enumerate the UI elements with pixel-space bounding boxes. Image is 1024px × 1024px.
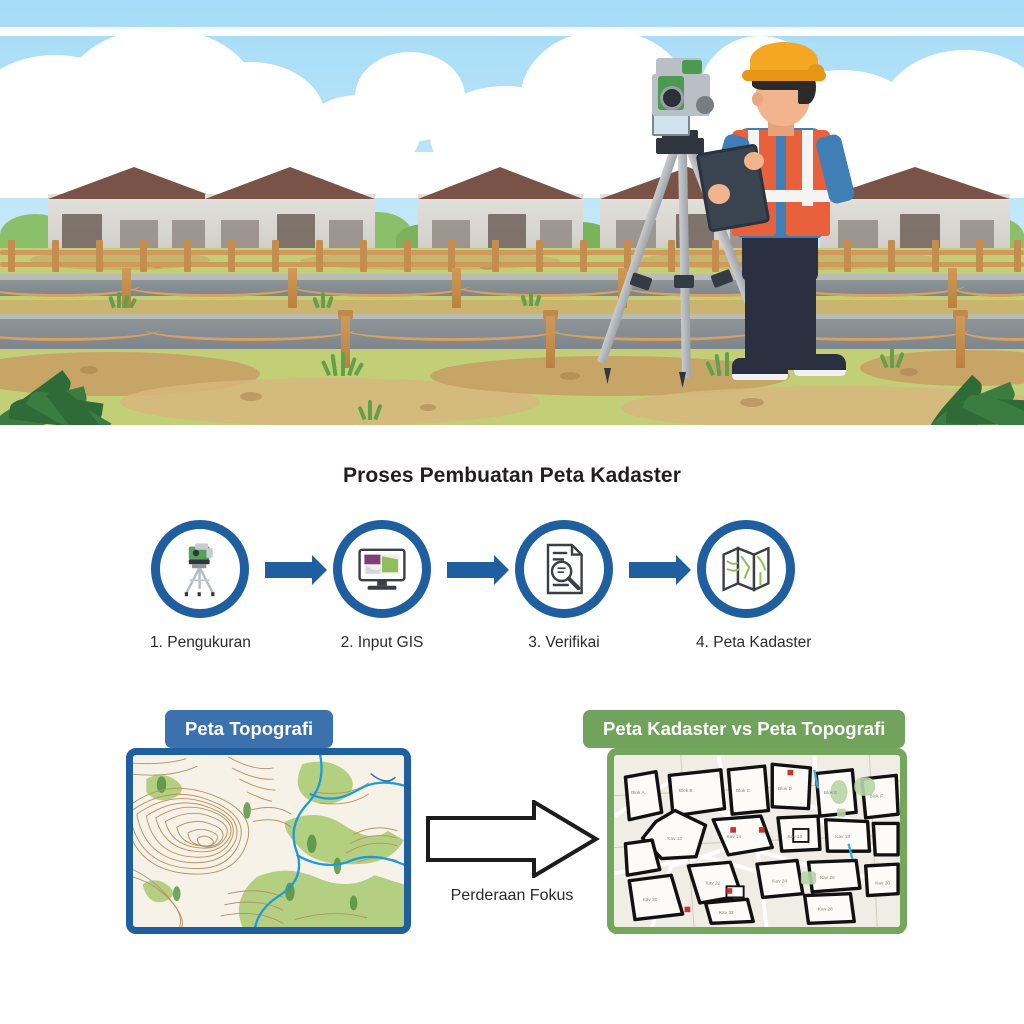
svg-text:Blok F: Blok F	[869, 794, 883, 799]
foreground-plant-left	[0, 318, 136, 425]
infographic-page: Proses Pembuatan Peta Kadaster	[0, 0, 1024, 1024]
document-magnifier-icon	[524, 529, 604, 609]
svg-text:Kav 28: Kav 28	[818, 906, 833, 911]
svg-text:Kav 24: Kav 24	[772, 879, 787, 884]
flow-connector-3	[629, 562, 677, 578]
svg-text:Kav 12: Kav 12	[667, 836, 682, 841]
flow-step-2-label: 2. Input GIS	[332, 634, 432, 652]
cadastral-map[interactable]: Blok ABlok B Blok CBlok D Blok EBlok F K…	[607, 748, 907, 934]
block-arrow-right-icon	[422, 800, 602, 878]
svg-text:Kav 16: Kav 16	[788, 834, 803, 839]
folded-map-icon	[706, 529, 786, 609]
process-flow-diagram: 1. Pengukuran 2. Input GIS	[150, 520, 874, 680]
svg-text:Kav 14: Kav 14	[726, 834, 741, 839]
flow-step-1[interactable]: 1. Pengukuran	[150, 520, 250, 652]
topographic-map[interactable]	[126, 748, 411, 934]
hero-illustration	[0, 0, 1024, 425]
svg-text:Blok D: Blok D	[778, 786, 793, 791]
svg-text:Kav 32: Kav 32	[719, 910, 734, 915]
focus-arrow-caption: Perderaan Fokus	[417, 887, 607, 905]
svg-text:Kav 26: Kav 26	[820, 875, 835, 880]
theodolite-tripod-icon	[160, 529, 240, 609]
flow-step-1-ring	[151, 520, 249, 618]
cadastral-map-badge: Peta Kadaster vs Peta Topografi	[583, 710, 905, 748]
flow-connector-1	[265, 562, 313, 578]
house	[48, 168, 220, 260]
focus-arrow-group: Perderaan Fokus	[417, 800, 607, 905]
svg-text:Blok C: Blok C	[736, 788, 751, 793]
topographic-map-badge: Peta Topografi	[165, 710, 333, 748]
flow-step-3[interactable]: 3. Verifikai	[514, 520, 614, 652]
cadastral-map-canvas: Blok ABlok B Blok CBlok D Blok EBlok F K…	[614, 755, 900, 927]
house	[418, 168, 583, 260]
map-comparison: Peta Topografi Peta Kadaster vs Peta Top…	[0, 710, 1024, 1000]
flow-step-2[interactable]: 2. Input GIS	[332, 520, 432, 652]
svg-text:Kav 20: Kav 20	[643, 897, 658, 902]
flow-connector-2	[447, 562, 495, 578]
foreground-plant-right	[914, 326, 1024, 425]
svg-text:Blok B: Blok B	[679, 788, 693, 793]
flow-step-3-label: 3. Verifikai	[514, 634, 614, 652]
flow-step-3-ring	[515, 520, 613, 618]
page-title: Proses Pembuatan Peta Kadaster	[0, 464, 1024, 488]
computer-monitor-map-icon	[342, 529, 422, 609]
svg-text:Kav 22: Kav 22	[706, 881, 721, 886]
svg-text:Kav 30: Kav 30	[875, 881, 890, 886]
content-section: Proses Pembuatan Peta Kadaster	[0, 425, 1024, 1024]
flow-step-4-ring	[697, 520, 795, 618]
flow-step-4-label: 4. Peta Kadaster	[696, 634, 796, 652]
svg-text:Blok A: Blok A	[631, 790, 645, 795]
svg-text:Blok E: Blok E	[824, 790, 838, 795]
surveyor-figure	[720, 40, 880, 400]
flow-step-2-ring	[333, 520, 431, 618]
topographic-map-canvas	[133, 755, 404, 927]
svg-text:Kav 18: Kav 18	[835, 834, 850, 839]
flow-step-1-label: 1. Pengukuran	[150, 634, 250, 652]
flow-step-4[interactable]: 4. Peta Kadaster	[696, 520, 796, 652]
